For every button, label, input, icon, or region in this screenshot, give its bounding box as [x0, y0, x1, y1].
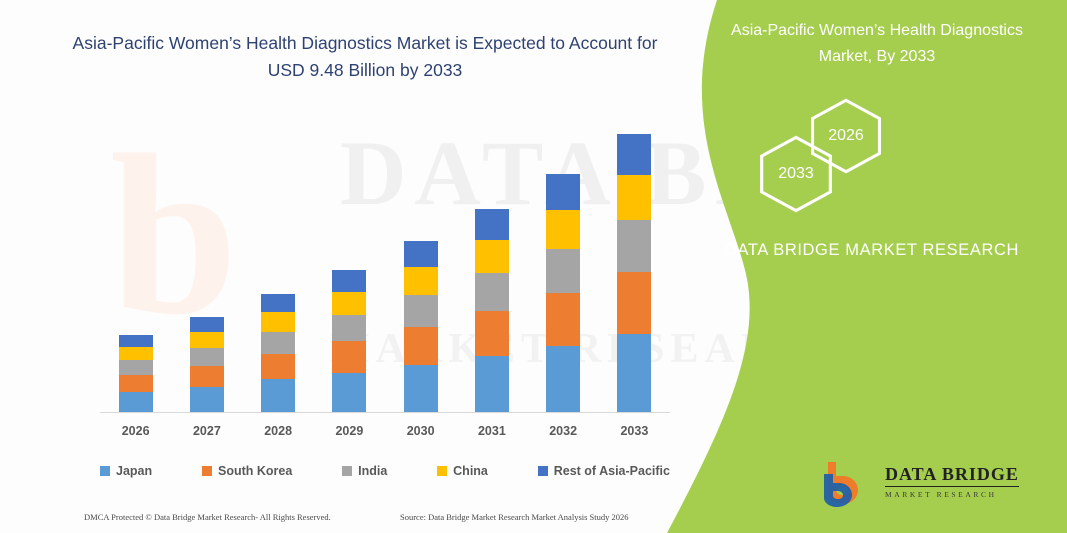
bar-segment-japan [190, 387, 224, 413]
hexagon-2026-label: 2026 [828, 127, 864, 145]
bar-segment-china [404, 267, 438, 295]
bar-segment-china [617, 175, 651, 220]
bar-column [404, 241, 438, 413]
logo-title: DATA BRIDGE [885, 464, 1019, 487]
bar-segment-japan [332, 373, 366, 413]
bar-segment-rest-of-asia-pacific [475, 209, 509, 240]
legend-label: China [453, 464, 488, 478]
bar-segment-japan [404, 365, 438, 413]
bar-segment-india [546, 249, 580, 293]
bar-segment-south-korea [475, 311, 509, 356]
bar-column [617, 134, 651, 413]
chart-legend: JapanSouth KoreaIndiaChinaRest of Asia-P… [100, 464, 670, 478]
x-axis-tick-2026: 2026 [101, 424, 171, 438]
bar-column [332, 270, 366, 413]
bar-segment-rest-of-asia-pacific [546, 174, 580, 210]
data-bridge-logo-icon [822, 460, 882, 508]
bar-segment-rest-of-asia-pacific [119, 335, 153, 347]
bar-segment-rest-of-asia-pacific [261, 294, 295, 312]
x-axis-tick-2033: 2033 [599, 424, 669, 438]
footer-source-text: Source: Data Bridge Market Research Mark… [400, 512, 629, 522]
bar-column [475, 209, 509, 413]
legend-item-south-korea[interactable]: South Korea [202, 464, 292, 478]
legend-item-rest-of-asia-pacific[interactable]: Rest of Asia-Pacific [538, 464, 670, 478]
bar-segment-south-korea [261, 354, 295, 379]
bar-column [261, 294, 295, 413]
bar-segment-rest-of-asia-pacific [332, 270, 366, 292]
logo-subtitle: MARKET RESEARCH [885, 490, 1019, 499]
bar-segment-south-korea [332, 341, 366, 373]
chart-title: Asia-Pacific Women’s Health Diagnostics … [65, 30, 665, 84]
hexagon-badge-2033: 2033 [756, 135, 836, 213]
x-axis-tick-2030: 2030 [386, 424, 456, 438]
bar-segment-india [119, 360, 153, 375]
x-axis-tick-2029: 2029 [314, 424, 384, 438]
bar-segment-japan [119, 392, 153, 413]
x-axis-line [100, 412, 670, 413]
legend-swatch-icon [202, 466, 212, 476]
bar-segment-japan [475, 356, 509, 413]
x-axis-tick-2027: 2027 [172, 424, 242, 438]
bar-segment-india [190, 348, 224, 366]
chart-plot-area [100, 140, 670, 413]
legend-swatch-icon [437, 466, 447, 476]
x-axis-tick-2028: 2028 [243, 424, 313, 438]
bar-segment-china [475, 240, 509, 273]
legend-item-japan[interactable]: Japan [100, 464, 152, 478]
legend-swatch-icon [538, 466, 548, 476]
chart-panel: b DATA BRIDGE MARKET RESEARCH Asia-Pacif… [0, 0, 760, 533]
bar-segment-china [190, 332, 224, 348]
data-bridge-logo-text: DATA BRIDGE MARKET RESEARCH [885, 464, 1019, 499]
bar-segment-south-korea [119, 375, 153, 392]
bar-segment-india [261, 332, 295, 354]
brand-panel-title: Asia-Pacific Women’s Health Diagnostics … [703, 18, 1051, 70]
legend-swatch-icon [100, 466, 110, 476]
bar-segment-rest-of-asia-pacific [190, 317, 224, 332]
footer-bar: DMCA Protected © Data Bridge Market Rese… [0, 508, 700, 526]
bar-segment-japan [546, 346, 580, 413]
bar-column [546, 174, 580, 413]
bar-segment-china [546, 210, 580, 249]
legend-swatch-icon [342, 466, 352, 476]
bar-segment-china [119, 347, 153, 360]
legend-label: India [358, 464, 387, 478]
bar-segment-china [332, 292, 366, 315]
bar-segment-south-korea [546, 293, 580, 346]
bar-column [190, 317, 224, 413]
legend-item-china[interactable]: China [437, 464, 488, 478]
legend-label: Rest of Asia-Pacific [554, 464, 670, 478]
brand-name-text: DATA BRIDGE MARKET RESEARCH [707, 237, 1037, 263]
bar-segment-india [332, 315, 366, 341]
hexagon-2033-label: 2033 [778, 165, 814, 183]
bar-segment-india [404, 295, 438, 327]
brand-panel-content: Asia-Pacific Women’s Health Diagnostics … [667, 0, 1067, 533]
bar-segment-south-korea [617, 272, 651, 334]
bar-segment-india [475, 273, 509, 311]
bar-segment-japan [617, 334, 651, 413]
x-axis-tick-2032: 2032 [528, 424, 598, 438]
bar-segment-south-korea [404, 327, 438, 365]
bar-segment-south-korea [190, 366, 224, 387]
bar-column [119, 335, 153, 413]
legend-item-india[interactable]: India [342, 464, 387, 478]
x-axis-labels: 20262027202820292030203120322033 [100, 424, 670, 444]
x-axis-tick-2031: 2031 [457, 424, 527, 438]
bar-segment-rest-of-asia-pacific [404, 241, 438, 267]
bar-segment-china [261, 312, 295, 332]
legend-label: Japan [116, 464, 152, 478]
legend-label: South Korea [218, 464, 292, 478]
footer-dmca-text: DMCA Protected © Data Bridge Market Rese… [84, 512, 331, 522]
bar-segment-japan [261, 379, 295, 413]
data-bridge-logo: DATA BRIDGE MARKET RESEARCH [822, 460, 1052, 512]
bar-segment-rest-of-asia-pacific [617, 134, 651, 175]
bar-segment-india [617, 220, 651, 272]
